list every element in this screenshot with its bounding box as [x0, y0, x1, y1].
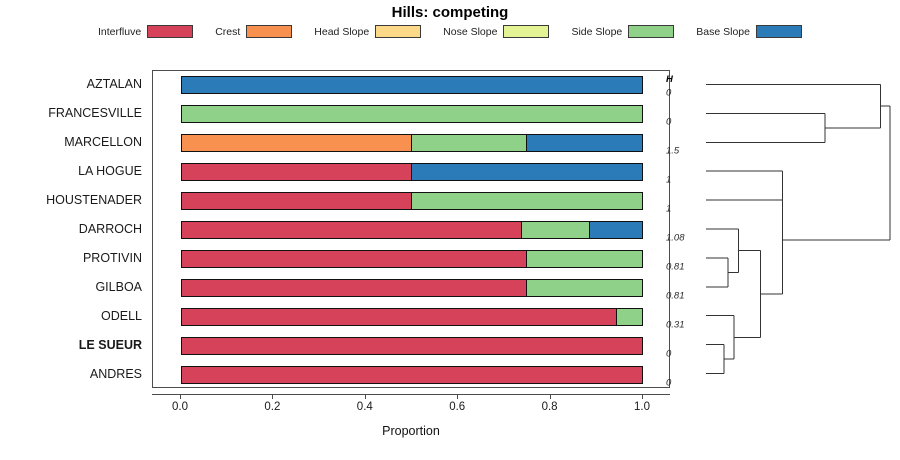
chart-title: Hills: competing	[0, 4, 900, 21]
bar-segment[interactable]	[522, 222, 590, 238]
stacked-bar[interactable]	[181, 337, 643, 355]
plot-panel	[152, 70, 670, 388]
x-axis-title: Proportion	[152, 424, 670, 438]
stacked-bar[interactable]	[181, 163, 643, 181]
legend-label: Head Slope	[314, 26, 369, 38]
bar-segment[interactable]	[182, 193, 412, 209]
x-axis-tick	[365, 394, 366, 399]
category-label: ODELL	[101, 309, 142, 323]
figure-root: Hills: competing InterfluveCrestHead Slo…	[0, 0, 900, 460]
legend-label: Nose Slope	[443, 26, 497, 38]
x-axis-line	[152, 394, 670, 395]
bar-segment[interactable]	[617, 309, 642, 325]
x-axis-tick-label: 1.0	[634, 401, 650, 413]
category-label: HOUSTENADER	[46, 193, 142, 207]
stacked-bar[interactable]	[181, 279, 643, 297]
category-label: MARCELLON	[64, 135, 142, 149]
x-axis-tick	[180, 394, 181, 399]
category-label: DARROCH	[79, 222, 142, 236]
bar-segment[interactable]	[182, 251, 527, 267]
category-label: PROTIVIN	[83, 251, 142, 265]
legend-swatch	[375, 25, 421, 38]
category-labels: AZTALANFRANCESVILLEMARCELLONLA HOGUEHOUS…	[0, 70, 148, 388]
x-axis: 0.00.20.40.60.81.0	[152, 388, 670, 428]
stacked-bar[interactable]	[181, 308, 643, 326]
x-axis-tick-label: 0.6	[449, 401, 465, 413]
category-label: FRANCESVILLE	[48, 106, 142, 120]
category-label: AZTALAN	[87, 77, 142, 91]
legend-swatch	[756, 25, 802, 38]
legend-swatch	[246, 25, 292, 38]
legend-entry[interactable]: Nose Slope	[443, 25, 549, 38]
legend: InterfluveCrestHead SlopeNose SlopeSide …	[0, 25, 900, 38]
legend-label: Base Slope	[696, 26, 750, 38]
dendrogram	[700, 70, 898, 388]
bar-segment[interactable]	[182, 222, 522, 238]
category-label: LA HOGUE	[78, 164, 142, 178]
x-axis-tick	[272, 394, 273, 399]
dendrogram-svg	[700, 70, 898, 388]
bar-segment[interactable]	[590, 222, 642, 238]
bar-segment[interactable]	[527, 135, 642, 151]
category-label: GILBOA	[95, 280, 142, 294]
stacked-bar[interactable]	[181, 105, 643, 123]
stacked-bar[interactable]	[181, 134, 643, 152]
x-axis-tick-label: 0.0	[172, 401, 188, 413]
legend-swatch	[628, 25, 674, 38]
legend-swatch	[503, 25, 549, 38]
legend-label: Side Slope	[571, 26, 622, 38]
bar-segment[interactable]	[182, 309, 617, 325]
stacked-bar[interactable]	[181, 250, 643, 268]
legend-label: Interfluve	[98, 26, 141, 38]
legend-entry[interactable]: Crest	[215, 25, 292, 38]
bar-segment[interactable]	[527, 280, 642, 296]
bar-segment[interactable]	[182, 367, 642, 383]
stacked-bar[interactable]	[181, 192, 643, 210]
stacked-bar[interactable]	[181, 221, 643, 239]
x-axis-tick-label: 0.4	[357, 401, 373, 413]
bar-segment[interactable]	[182, 135, 412, 151]
legend-label: Crest	[215, 26, 240, 38]
x-axis-tick	[457, 394, 458, 399]
bar-segment[interactable]	[412, 193, 642, 209]
stacked-bar[interactable]	[181, 366, 643, 384]
bar-segment[interactable]	[182, 77, 642, 93]
x-axis-tick-label: 0.2	[264, 401, 280, 413]
legend-entry[interactable]: Head Slope	[314, 25, 421, 38]
x-axis-tick	[642, 394, 643, 399]
bar-segment[interactable]	[182, 280, 527, 296]
bar-segment[interactable]	[182, 338, 642, 354]
category-label: ANDRES	[90, 367, 142, 381]
legend-entry[interactable]: Side Slope	[571, 25, 674, 38]
bar-segment[interactable]	[182, 164, 412, 180]
stacked-bar[interactable]	[181, 76, 643, 94]
bar-segment[interactable]	[527, 251, 642, 267]
x-axis-tick	[550, 394, 551, 399]
legend-entry[interactable]: Interfluve	[98, 25, 193, 38]
x-axis-tick-label: 0.8	[542, 401, 558, 413]
legend-entry[interactable]: Base Slope	[696, 25, 802, 38]
bar-segment[interactable]	[412, 164, 642, 180]
category-label: LE SUEUR	[79, 338, 142, 352]
legend-swatch	[147, 25, 193, 38]
bar-segment[interactable]	[182, 106, 642, 122]
bar-segment[interactable]	[412, 135, 527, 151]
